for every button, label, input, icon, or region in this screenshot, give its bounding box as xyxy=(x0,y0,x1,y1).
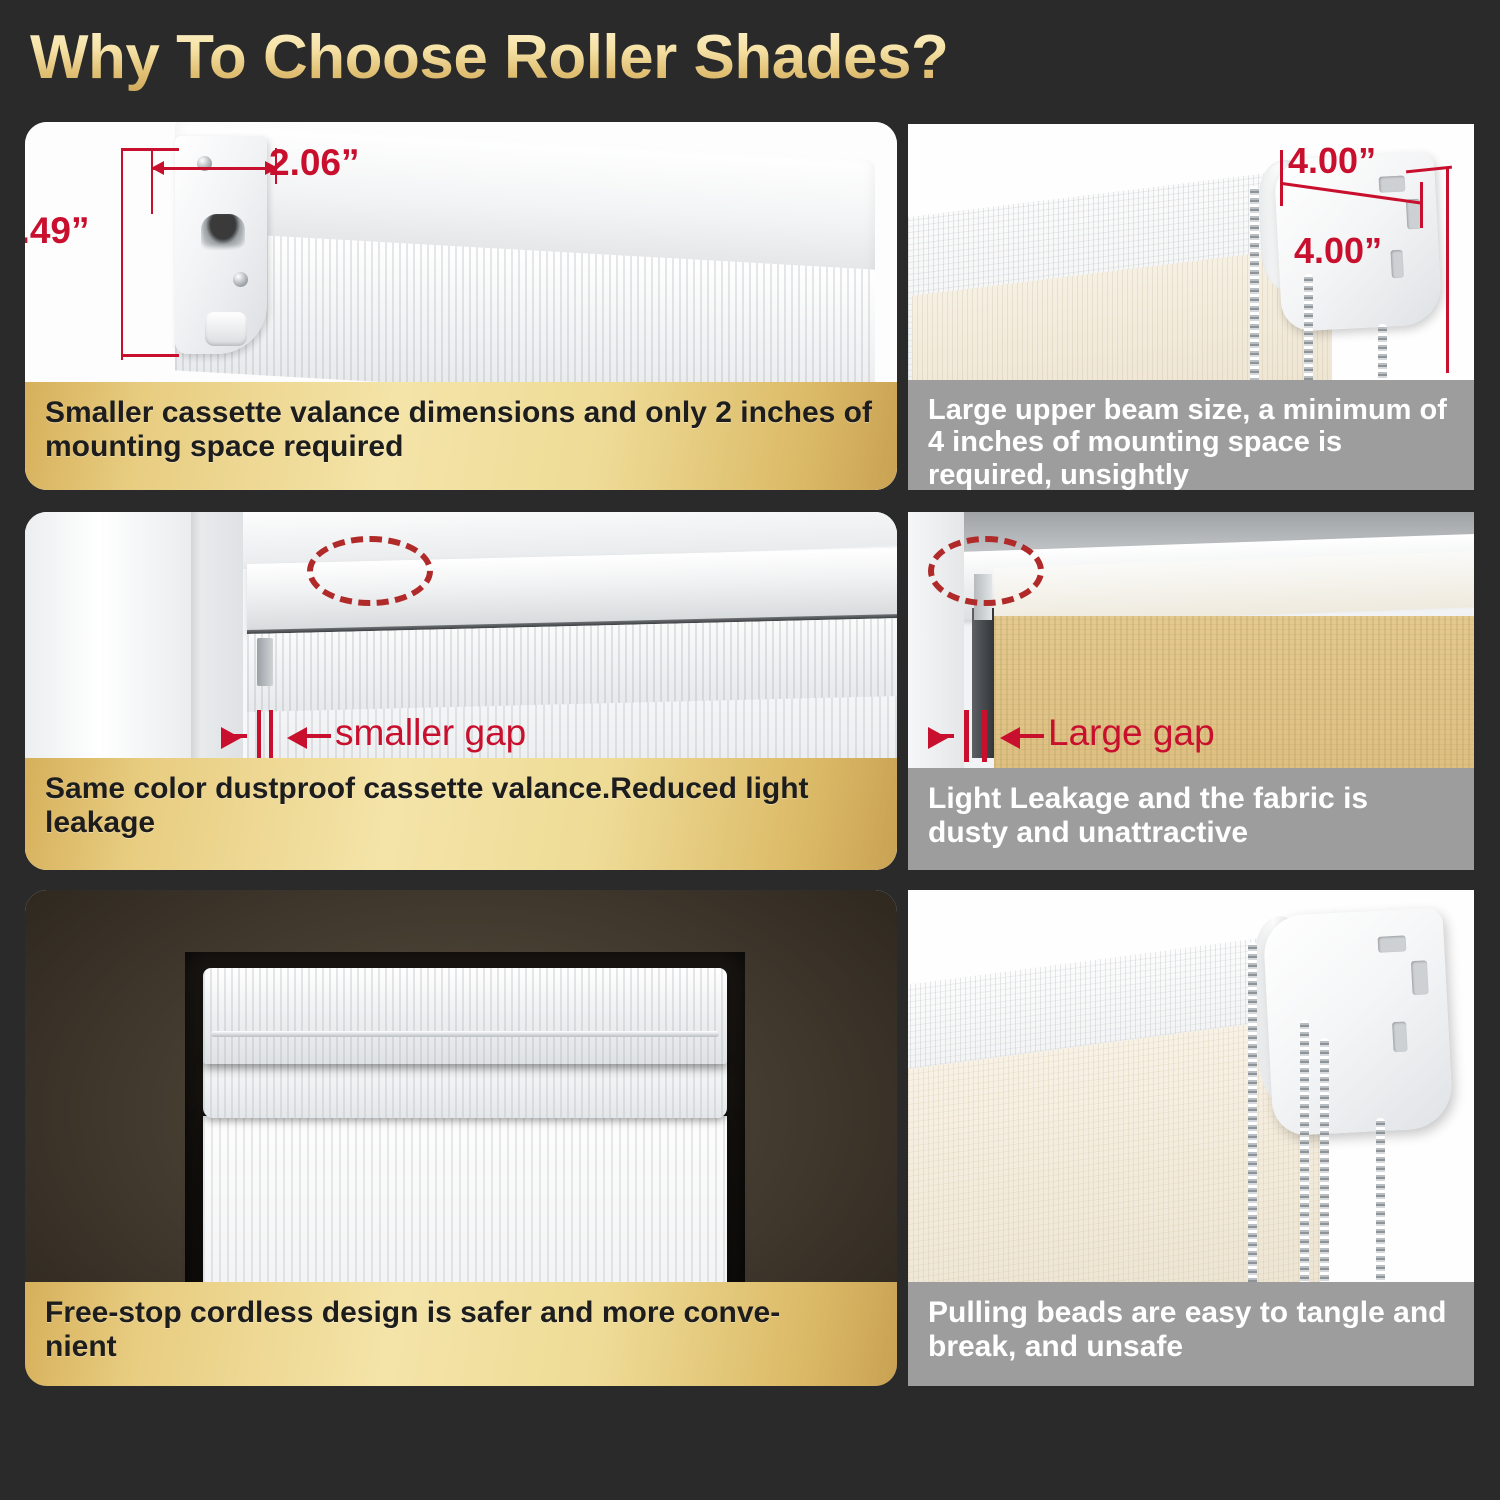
gap-callout-label: smaller gap xyxy=(335,712,526,754)
caption-free-stop-cordless: Free-stop cordless design is safer and m… xyxy=(25,1282,897,1386)
caption-dustproof-cassette: Same color dustproof cassette valance.Re… xyxy=(25,758,897,870)
highlight-ellipse xyxy=(928,536,1044,606)
gap-arrow-stem xyxy=(305,734,331,738)
free-stop-knob xyxy=(201,214,245,250)
dim-ext-top xyxy=(121,148,179,151)
dimension-label-height: 5.49” xyxy=(25,210,90,252)
valance-lower xyxy=(203,1056,727,1118)
gap-arrow-right-icon xyxy=(928,727,948,749)
dim-tick-left xyxy=(1280,150,1283,206)
gap-arrow-stem xyxy=(223,734,247,738)
screw-icon xyxy=(233,272,248,287)
panel-pulling-beads[interactable]: Pulling beads are easy to tangle and bre… xyxy=(908,890,1474,1386)
gap-arrow-right-icon xyxy=(221,727,241,749)
panel-smaller-cassette-valance[interactable]: 2.06” 5.49” Smaller cassette valance dim… xyxy=(25,122,897,490)
gap-tick-left xyxy=(964,710,969,762)
caption-smaller-cassette: Smaller cassette valance dimensions and … xyxy=(25,382,897,490)
dimension-label-width: 2.06” xyxy=(269,142,360,184)
cassette-headrail xyxy=(203,968,727,1064)
panel-free-stop-cordless[interactable]: Free-stop cordless design is safer and m… xyxy=(25,890,897,1386)
panel-light-leakage[interactable]: Large gap Light Leakage and the fabric i… xyxy=(908,512,1474,870)
gap-tick-left xyxy=(257,710,261,762)
gap-arrow-left-icon xyxy=(287,727,307,749)
dim-line-height xyxy=(1446,168,1449,373)
bracket-stub xyxy=(257,638,273,686)
dimension-label-width: 4.00” xyxy=(1288,140,1376,182)
dim-ext-bottom xyxy=(121,354,179,357)
highlight-ellipse xyxy=(307,536,433,606)
caption-line-1: Free-stop cordless design is safer and m… xyxy=(45,1296,780,1329)
caption-pulling-beads: Pulling beads are easy to tangle and bre… xyxy=(908,1282,1474,1386)
gap-tick-right xyxy=(982,710,987,762)
dim-line-width xyxy=(153,167,277,170)
panel-dustproof-cassette[interactable]: smaller gap Same color dustproof cassett… xyxy=(25,512,897,870)
dim-line-height xyxy=(121,150,123,360)
caption-line-2: nient xyxy=(45,1330,117,1363)
caption-light-leakage: Light Leakage and the fabric is dusty an… xyxy=(908,768,1474,870)
gap-arrow-stem xyxy=(930,734,954,738)
caption-large-upper-beam: Large upper beam size, a minimum of 4 in… xyxy=(908,380,1474,490)
gap-arrow-left-icon xyxy=(1000,727,1020,749)
mounting-foot xyxy=(205,312,247,346)
gap-tick-right xyxy=(269,710,273,762)
page-title: Why To Choose Roller Shades? xyxy=(30,22,948,93)
dimension-label-height: 4.00” xyxy=(1294,230,1382,272)
dim-tick-right xyxy=(1420,182,1423,228)
dim-arrow-left-icon xyxy=(151,161,164,175)
mounting-bracket xyxy=(1262,907,1453,1136)
gap-arrow-stem xyxy=(1018,734,1044,738)
gap-callout-label: Large gap xyxy=(1048,712,1215,754)
panel-large-upper-beam[interactable]: 4.00” 4.00” Large upper beam size, a min… xyxy=(908,124,1474,490)
dim-tick-left xyxy=(151,148,153,214)
